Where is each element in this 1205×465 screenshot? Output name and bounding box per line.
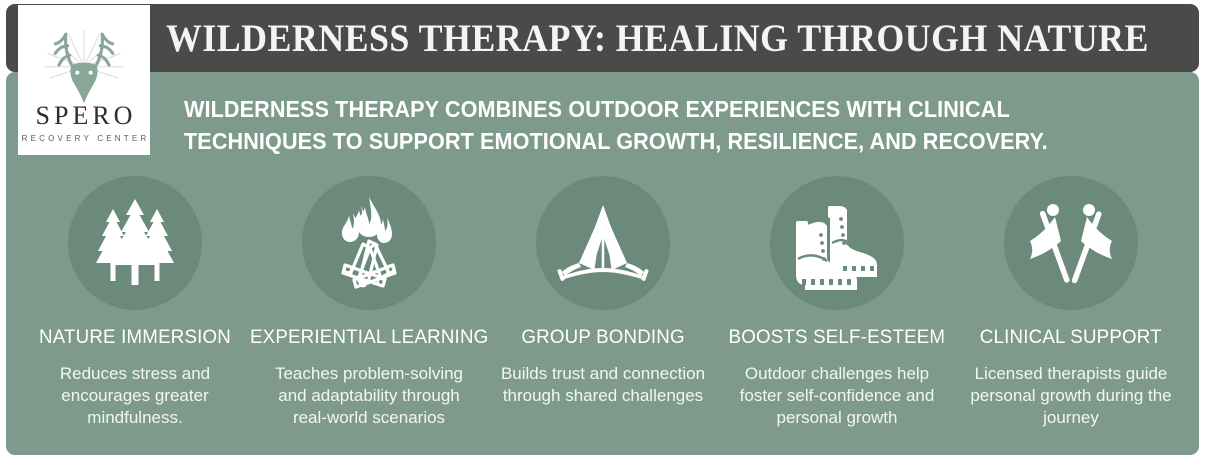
feature-description: Teaches problem-solving and adaptability… bbox=[262, 363, 477, 428]
logo-tagline: RECOVERY CENTER bbox=[19, 134, 150, 143]
feature-column-clinical-support: CLINICAL SUPPORT Licensed therapists gui… bbox=[954, 176, 1188, 428]
tent-icon bbox=[548, 191, 658, 295]
icon-circle bbox=[770, 176, 904, 310]
feature-column-group-bonding: GROUP BONDING Builds trust and connectio… bbox=[486, 176, 720, 428]
header-bar: WILDERNESS THERAPY: HEALING THROUGH NATU… bbox=[6, 4, 1199, 72]
deer-antlers-icon bbox=[25, 17, 143, 109]
infographic-root: WILDERNESS THERAPY: HEALING THROUGH NATU… bbox=[0, 0, 1205, 465]
feature-column-nature-immersion: NATURE IMMERSION Reduces stress and enco… bbox=[18, 176, 252, 428]
feature-column-experiential-learning: EXPERIENTIAL LEARNING Teaches problem-so… bbox=[252, 176, 486, 428]
feature-description: Reduces stress and encourages greater mi… bbox=[28, 363, 243, 428]
icon-circle bbox=[536, 176, 670, 310]
feature-columns: NATURE IMMERSION Reduces stress and enco… bbox=[18, 176, 1188, 428]
feature-title: EXPERIENTIAL LEARNING bbox=[250, 326, 488, 349]
feature-title: NATURE IMMERSION bbox=[39, 326, 231, 349]
icon-circle bbox=[68, 176, 202, 310]
hiking-boots-icon bbox=[783, 191, 891, 295]
icon-circle bbox=[302, 176, 436, 310]
crossed-flags-icon bbox=[1018, 191, 1124, 295]
feature-description: Licensed therapists guide personal growt… bbox=[964, 363, 1179, 428]
pine-trees-icon bbox=[83, 191, 187, 295]
feature-title: GROUP BONDING bbox=[521, 326, 684, 349]
feature-title: CLINICAL SUPPORT bbox=[980, 326, 1162, 349]
feature-description: Builds trust and connection through shar… bbox=[496, 363, 711, 407]
feature-description: Outdoor challenges help foster self-conf… bbox=[730, 363, 945, 428]
logo-wordmark: SPERO bbox=[32, 103, 137, 129]
icon-circle bbox=[1004, 176, 1138, 310]
subtitle-text: WILDERNESS THERAPY COMBINES OUTDOOR EXPE… bbox=[184, 94, 1115, 157]
feature-title: BOOSTS SELF-ESTEEM bbox=[729, 326, 946, 349]
feature-column-boosts-self-esteem: BOOSTS SELF-ESTEEM Outdoor challenges he… bbox=[720, 176, 954, 428]
body-panel: WILDERNESS THERAPY COMBINES OUTDOOR EXPE… bbox=[6, 72, 1199, 455]
page-title: WILDERNESS THERAPY: HEALING THROUGH NATU… bbox=[56, 19, 1149, 58]
logo: SPERO RECOVERY CENTER bbox=[18, 5, 150, 155]
campfire-icon bbox=[317, 191, 421, 295]
